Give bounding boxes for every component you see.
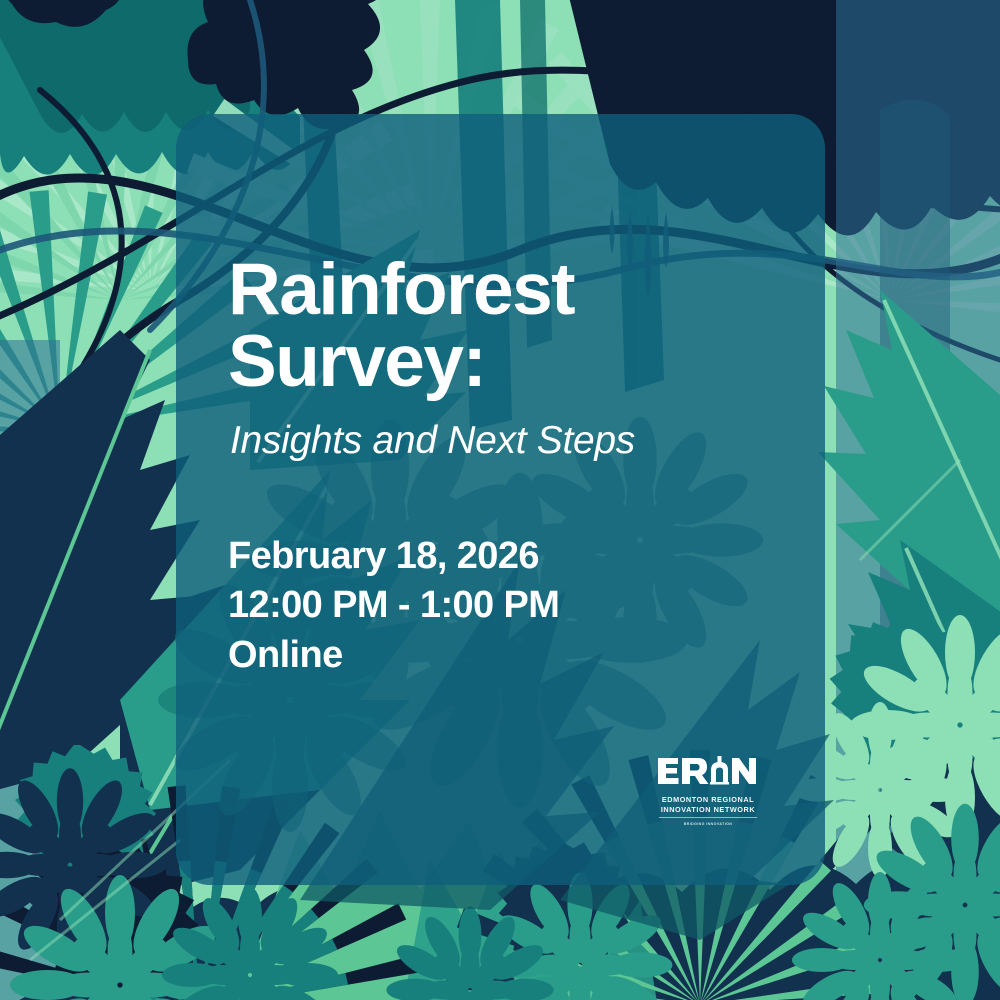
event-details: February 18, 2026 12:00 PM - 1:00 PM Onl…: [228, 532, 559, 680]
erin-logo: EDMONTON REGIONAL INNOVATION NETWORK BRI…: [656, 755, 760, 821]
event-date: February 18, 2026: [228, 532, 559, 581]
erin-wordmark: [656, 755, 760, 792]
erin-org-name-line1: EDMONTON REGIONAL: [656, 795, 760, 805]
event-poster: Rainforest Survey: Insights and Next Ste…: [0, 0, 1000, 1000]
erin-logo-mark: [656, 755, 760, 787]
page-title: Rainforest Survey:: [228, 254, 574, 397]
page-subtitle: Insights and Next Steps: [230, 419, 635, 463]
erin-org-name-line2: INNOVATION NETWORK: [656, 805, 760, 815]
event-time: 12:00 PM - 1:00 PM: [228, 581, 559, 630]
event-location: Online: [228, 631, 559, 680]
logo-divider: [659, 817, 757, 818]
erin-tagline: BRIDGING INNOVATION: [656, 822, 760, 826]
